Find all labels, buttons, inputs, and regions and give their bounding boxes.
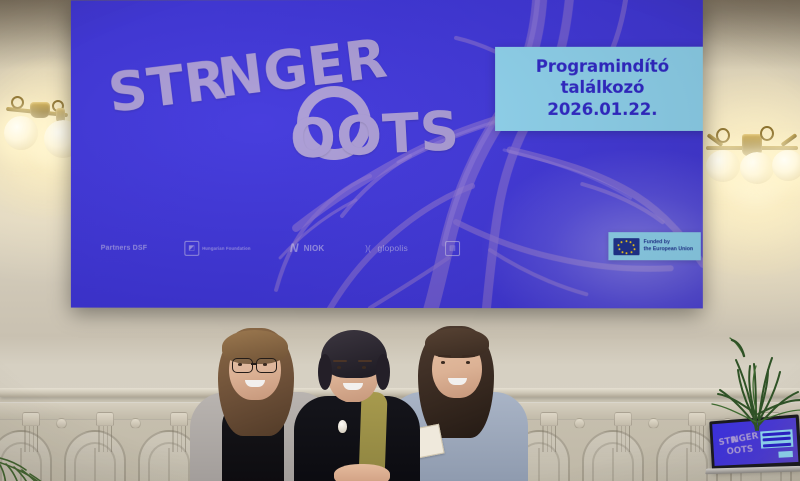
eu-funding-line1: Funded by — [644, 239, 670, 245]
eu-flag-icon — [613, 238, 639, 255]
projection-screen: STR NGER OOTS Programindító találkozó 20… — [71, 0, 703, 308]
slide-info-card: Programindító találkozó 2026.01.22. — [495, 47, 703, 132]
wordmark-stronger: STR — [105, 48, 230, 125]
eu-funding-text: Funded by the European Union — [644, 239, 694, 253]
laptop-eu-card — [778, 451, 793, 458]
laptop-wordmark-oots: OOTS — [726, 444, 754, 457]
eu-funding-line2: the European Union — [644, 246, 694, 252]
info-card-line3: 2026.01.22. — [503, 99, 702, 121]
partner-logo-1-mark: ◩ — [184, 240, 199, 255]
partner-logo-0-label: Partners DSF — [101, 244, 148, 251]
person-left-glasses-left — [232, 358, 253, 373]
partner-logo-3-mark: )( — [361, 241, 374, 254]
info-card-line1: Programindító — [503, 56, 702, 78]
partner-logo-3-label: glopolis — [377, 243, 407, 253]
stronger-roots-wordmark: STR NGER OOTS — [109, 28, 508, 168]
partner-logo-strip: Partners DSF ◩ Hungarian Foundation N NI… — [101, 234, 460, 262]
partner-logo-4: ▤ — [445, 241, 460, 256]
person-center — [298, 328, 416, 481]
wordmark-nger: NGER — [214, 27, 390, 110]
partner-logo-2: N NIOK — [288, 241, 325, 254]
partner-logo-2-label: NIOK — [304, 243, 325, 252]
person-center-brooch — [338, 420, 347, 433]
person-left-glasses-right — [256, 358, 277, 373]
person-center-hands — [334, 464, 390, 481]
screenshot-root: STR NGER OOTS Programindító találkozó 20… — [0, 0, 800, 481]
person-right-hair-front — [425, 328, 489, 358]
eu-funding-card: Funded by the European Union — [608, 232, 700, 260]
partner-logo-1-label: Hungarian Foundation — [202, 245, 251, 250]
partner-logo-2-mark: N — [288, 241, 301, 254]
wall-sconce-right — [700, 120, 800, 206]
person-left-hair-front — [222, 330, 288, 364]
info-card-line2: találkozó — [503, 77, 702, 99]
partner-logo-1: ◩ Hungarian Foundation — [184, 240, 250, 255]
plant-left-frond — [0, 430, 86, 481]
partner-logo-4-mark: ▤ — [445, 241, 460, 256]
partner-logo-0: Partners DSF — [101, 244, 148, 251]
wordmark-oots: OOTS — [288, 99, 461, 171]
plant-right-potted — [706, 326, 800, 434]
partner-logo-3: )( glopolis — [361, 241, 407, 254]
